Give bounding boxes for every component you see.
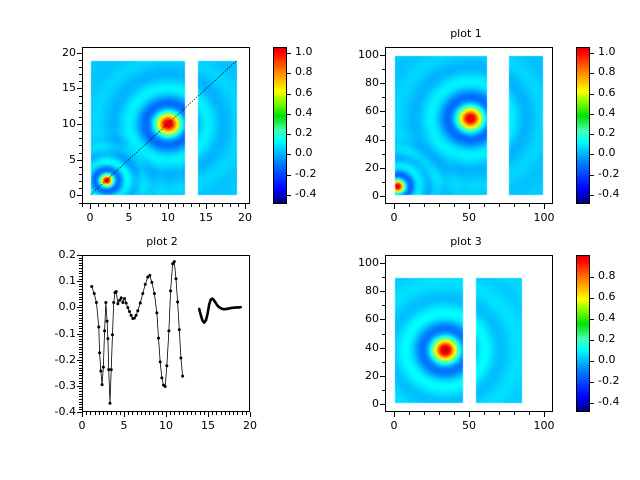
y-tick-minor [79, 276, 82, 277]
line-series-plot2 [83, 256, 249, 411]
y-tick-label: 100 [341, 257, 379, 268]
y-tick-minor [79, 402, 82, 403]
y-tick-minor [79, 391, 82, 392]
x-tick-minor [212, 412, 213, 415]
y-tick-minor [382, 97, 385, 98]
y-tick-minor [79, 260, 82, 261]
colorbar-tick-label: 0.8 [598, 66, 616, 77]
y-tick-minor [79, 360, 82, 361]
diagonal-overlay-line [83, 48, 249, 203]
y-tick-minor [79, 160, 82, 161]
y-tick-minor [79, 265, 82, 266]
y-tick-minor [79, 404, 82, 405]
y-tick-minor [79, 318, 82, 319]
x-tick-minor [454, 204, 455, 207]
y-tick-minor [382, 111, 385, 112]
y-tick-minor [79, 320, 82, 321]
y-tick-minor [79, 378, 82, 379]
x-tick-minor [183, 412, 184, 415]
y-tick-minor [79, 294, 82, 295]
y-tick-label: 0 [341, 190, 379, 201]
colorbar-tick-mark [589, 319, 594, 320]
x-tick-label: 20 [225, 212, 265, 223]
heatmap-bottom-right [386, 256, 552, 411]
x-tick-minor [204, 412, 205, 415]
y-tick-label: 0 [38, 189, 76, 200]
y-tick-minor [79, 263, 82, 264]
y-tick-minor [79, 334, 82, 335]
x-tick-label: 15 [188, 420, 228, 431]
colorbar-tick-label: 1.0 [295, 46, 313, 57]
y-tick-label: 10 [38, 118, 76, 129]
page-title-plot1: plot 1 [376, 28, 556, 40]
x-tick-minor [242, 412, 243, 415]
y-tick-minor [79, 370, 82, 371]
colorbar-tick-mark [589, 53, 594, 54]
y-tick-minor [79, 352, 82, 353]
y-tick-minor [79, 373, 82, 374]
x-tick-minor [141, 412, 142, 415]
colorbar-tick-mark [589, 298, 594, 299]
x-tick-minor [82, 204, 83, 207]
y-tick-minor [79, 310, 82, 311]
y-tick-minor [79, 339, 82, 340]
x-tick-minor [124, 412, 125, 415]
x-tick-minor [179, 412, 180, 415]
y-tick-minor [79, 258, 82, 259]
page-title-plot3: plot 3 [376, 236, 556, 248]
x-tick-minor [544, 204, 545, 207]
y-tick-minor [382, 376, 385, 377]
y-tick-minor [382, 404, 385, 405]
y-tick-minor [79, 81, 82, 82]
colorbar-tick-label: 0.0 [295, 147, 313, 158]
y-tick-minor [79, 96, 82, 97]
y-tick-minor [382, 305, 385, 306]
x-tick-minor [214, 204, 215, 207]
y-tick-minor [382, 348, 385, 349]
x-tick-minor [107, 412, 108, 415]
x-tick-minor [529, 204, 530, 207]
x-tick-minor [153, 412, 154, 415]
x-tick-label: 0 [62, 420, 102, 431]
x-tick-minor [439, 412, 440, 415]
x-tick-minor [409, 204, 410, 207]
x-tick-minor [116, 412, 117, 415]
colorbar-bottom-right [576, 255, 590, 412]
y-tick-minor [79, 279, 82, 280]
x-tick-minor [170, 412, 171, 415]
y-tick-label: -0.3 [38, 380, 76, 391]
axes-bottom-right[interactable] [385, 255, 553, 412]
colorbar-tick-label: 0.6 [598, 291, 616, 302]
x-tick-minor [200, 412, 201, 415]
y-tick-minor [382, 69, 385, 70]
y-tick-minor [79, 181, 82, 182]
y-tick-label: -0.4 [38, 406, 76, 417]
y-tick-minor [382, 291, 385, 292]
x-tick-minor [238, 204, 239, 207]
y-tick-minor [79, 299, 82, 300]
x-tick-minor [105, 204, 106, 207]
x-tick-minor [469, 204, 470, 207]
y-tick-minor [382, 154, 385, 155]
y-tick-minor [79, 268, 82, 269]
y-tick-minor [79, 394, 82, 395]
y-tick-minor [79, 336, 82, 337]
x-tick-minor [128, 412, 129, 415]
x-tick-label: 0 [374, 212, 414, 223]
y-tick-label: 80 [341, 285, 379, 296]
y-tick-minor [79, 103, 82, 104]
colorbar-top-left [273, 47, 287, 204]
x-tick-minor [514, 412, 515, 415]
y-tick-minor [382, 362, 385, 363]
x-tick-label: 0 [70, 212, 110, 223]
colorbar-tick-mark [589, 382, 594, 383]
heatmap-top-right [386, 48, 552, 203]
y-tick-minor [79, 362, 82, 363]
y-tick-minor [79, 326, 82, 327]
y-tick-label: 20 [341, 162, 379, 173]
x-tick-minor [499, 204, 500, 207]
colorbar-tick-label: 0.8 [598, 270, 616, 281]
colorbar-tick-mark [589, 94, 594, 95]
colorbar-tick-mark [589, 73, 594, 74]
y-tick-minor [382, 277, 385, 278]
y-tick-label: 0.0 [38, 301, 76, 312]
y-tick-minor [79, 188, 82, 189]
x-tick-minor [237, 412, 238, 415]
colorbar-tick-mark [286, 94, 291, 95]
x-tick-minor [191, 204, 192, 207]
y-tick-minor [382, 140, 385, 141]
y-tick-minor [382, 83, 385, 84]
y-tick-minor [382, 182, 385, 183]
y-tick-minor [79, 409, 82, 410]
x-tick-minor [514, 204, 515, 207]
y-tick-label: -0.2 [38, 354, 76, 365]
y-tick-minor [79, 292, 82, 293]
x-tick-minor [136, 204, 137, 207]
x-tick-minor [98, 204, 99, 207]
x-tick-label: 5 [109, 212, 149, 223]
x-tick-minor [129, 204, 130, 207]
y-tick-minor [382, 334, 385, 335]
x-tick-minor [90, 412, 91, 415]
colorbar-tick-mark [589, 175, 594, 176]
colorbar-top-right [576, 47, 590, 204]
y-tick-minor [79, 281, 82, 282]
x-tick-minor [160, 204, 161, 207]
x-tick-minor [132, 412, 133, 415]
colorbar-tick-label: -0.4 [598, 396, 619, 407]
colorbar-tick-label: -0.2 [598, 375, 619, 386]
colorbar-tick-mark [589, 154, 594, 155]
x-tick-label: 10 [146, 420, 186, 431]
y-tick-minor [79, 344, 82, 345]
x-tick-minor [529, 412, 530, 415]
y-tick-minor [79, 302, 82, 303]
x-tick-label: 20 [230, 420, 270, 431]
x-tick-minor [484, 412, 485, 415]
y-tick-minor [79, 289, 82, 290]
y-tick-minor [79, 138, 82, 139]
x-tick-label: 15 [186, 212, 226, 223]
y-tick-label: 40 [341, 134, 379, 145]
colorbar-tick-mark [286, 114, 291, 115]
colorbar-tick-mark [286, 134, 291, 135]
y-tick-minor [79, 286, 82, 287]
y-tick-minor [79, 145, 82, 146]
x-tick-label: 100 [524, 420, 564, 431]
y-tick-label: 100 [341, 49, 379, 60]
x-tick-minor [82, 412, 83, 415]
x-tick-minor [246, 412, 247, 415]
y-tick-minor [79, 368, 82, 369]
y-tick-minor [382, 168, 385, 169]
y-tick-minor [79, 386, 82, 387]
colorbar-tick-label: 1.0 [598, 46, 616, 57]
axes-top-left[interactable] [82, 47, 250, 204]
x-tick-minor [221, 412, 222, 415]
colorbar-tick-mark [286, 175, 291, 176]
x-tick-minor [484, 204, 485, 207]
x-tick-minor [208, 412, 209, 415]
x-tick-minor [424, 412, 425, 415]
colorbar-gradient-top-right [577, 48, 589, 203]
colorbar-tick-mark [589, 195, 594, 196]
y-tick-minor [79, 323, 82, 324]
x-tick-minor [216, 412, 217, 415]
figure-canvas: 0510152005101520 plot 1 0204060801000501… [0, 0, 640, 480]
x-tick-minor [174, 412, 175, 415]
y-tick-minor [79, 67, 82, 68]
x-tick-minor [86, 412, 87, 415]
y-tick-minor [79, 399, 82, 400]
y-tick-minor [79, 365, 82, 366]
y-tick-label: 5 [38, 154, 76, 165]
x-tick-minor [394, 412, 395, 415]
x-tick-minor [137, 412, 138, 415]
y-tick-minor [79, 53, 82, 54]
y-tick-minor [382, 263, 385, 264]
y-tick-minor [79, 74, 82, 75]
x-tick-label: 0 [374, 420, 414, 431]
y-tick-minor [79, 88, 82, 89]
colorbar-gradient-top-left [274, 48, 286, 203]
colorbar-tick-mark [589, 134, 594, 135]
y-tick-minor [79, 167, 82, 168]
y-tick-minor [79, 174, 82, 175]
x-tick-minor [250, 412, 251, 415]
y-tick-minor [79, 117, 82, 118]
y-tick-label: 80 [341, 77, 379, 88]
y-tick-minor [79, 313, 82, 314]
y-tick-minor [79, 383, 82, 384]
x-tick-minor [199, 204, 200, 207]
y-tick-minor [79, 195, 82, 196]
x-tick-minor [229, 412, 230, 415]
x-tick-minor [187, 412, 188, 415]
y-tick-minor [79, 271, 82, 272]
y-tick-label: 20 [341, 370, 379, 381]
y-tick-label: -0.1 [38, 328, 76, 339]
x-tick-minor [230, 204, 231, 207]
x-tick-minor [544, 412, 545, 415]
x-tick-minor [191, 412, 192, 415]
x-tick-minor [111, 412, 112, 415]
y-tick-label: 60 [341, 105, 379, 116]
x-tick-label: 10 [148, 212, 188, 223]
x-tick-label: 50 [449, 420, 489, 431]
y-tick-minor [79, 60, 82, 61]
colorbar-tick-label: 0.4 [295, 107, 313, 118]
x-tick-minor [158, 412, 159, 415]
y-tick-minor [79, 357, 82, 358]
y-tick-minor [79, 347, 82, 348]
colorbar-gradient-bottom-right [577, 256, 589, 411]
colorbar-tick-label: 0.2 [598, 127, 616, 138]
y-tick-minor [79, 284, 82, 285]
x-tick-minor [144, 204, 145, 207]
y-tick-minor [79, 341, 82, 342]
axes-top-right[interactable] [385, 47, 553, 204]
x-tick-label: 50 [449, 212, 489, 223]
colorbar-tick-mark [286, 154, 291, 155]
y-tick-minor [382, 55, 385, 56]
x-tick-minor [206, 204, 207, 207]
x-tick-minor [245, 204, 246, 207]
colorbar-tick-mark [589, 361, 594, 362]
x-tick-minor [95, 412, 96, 415]
colorbar-tick-label: -0.2 [598, 168, 619, 179]
x-tick-minor [99, 412, 100, 415]
y-tick-minor [79, 396, 82, 397]
y-tick-minor [382, 319, 385, 320]
y-tick-minor [79, 349, 82, 350]
y-tick-minor [79, 375, 82, 376]
x-tick-minor [90, 204, 91, 207]
colorbar-tick-mark [286, 73, 291, 74]
y-tick-minor [79, 307, 82, 308]
x-tick-minor [454, 412, 455, 415]
y-tick-label: 0.2 [38, 249, 76, 260]
colorbar-tick-label: -0.2 [295, 168, 316, 179]
y-tick-minor [79, 255, 82, 256]
x-tick-minor [439, 204, 440, 207]
y-tick-minor [79, 297, 82, 298]
colorbar-tick-label: 0.2 [295, 127, 313, 138]
x-tick-minor [175, 204, 176, 207]
y-tick-minor [79, 273, 82, 274]
y-tick-minor [79, 131, 82, 132]
y-tick-label: 0.1 [38, 275, 76, 286]
colorbar-tick-label: 0.4 [598, 312, 616, 323]
x-tick-minor [121, 204, 122, 207]
colorbar-tick-mark [589, 114, 594, 115]
colorbar-tick-label: 0.0 [598, 354, 616, 365]
colorbar-tick-mark [589, 403, 594, 404]
colorbar-tick-mark [589, 340, 594, 341]
colorbar-tick-label: 0.6 [295, 87, 313, 98]
axes-bottom-left[interactable] [82, 255, 250, 412]
y-tick-minor [79, 354, 82, 355]
x-tick-label: 100 [524, 212, 564, 223]
x-tick-minor [499, 412, 500, 415]
y-tick-minor [79, 110, 82, 111]
colorbar-tick-mark [286, 195, 291, 196]
x-tick-minor [222, 204, 223, 207]
x-tick-minor [195, 412, 196, 415]
y-tick-minor [79, 153, 82, 154]
y-tick-minor [79, 331, 82, 332]
x-tick-minor [162, 412, 163, 415]
colorbar-tick-label: -0.4 [598, 188, 619, 199]
x-tick-minor [113, 204, 114, 207]
x-tick-minor [233, 412, 234, 415]
x-tick-minor [424, 204, 425, 207]
y-tick-label: 15 [38, 82, 76, 93]
y-tick-minor [79, 407, 82, 408]
y-tick-minor [79, 328, 82, 329]
y-tick-label: 20 [38, 47, 76, 58]
x-tick-minor [409, 412, 410, 415]
x-tick-minor [149, 412, 150, 415]
x-tick-minor [152, 204, 153, 207]
page-title-plot2: plot 2 [72, 236, 252, 248]
colorbar-tick-label: 0.4 [598, 107, 616, 118]
y-tick-minor [79, 315, 82, 316]
colorbar-tick-label: -0.4 [295, 188, 316, 199]
y-tick-minor [382, 126, 385, 127]
x-tick-minor [168, 204, 169, 207]
colorbar-tick-label: 0.2 [598, 333, 616, 344]
y-tick-minor [382, 196, 385, 197]
colorbar-tick-label: 0.6 [598, 87, 616, 98]
y-tick-label: 40 [341, 342, 379, 353]
x-tick-minor [394, 204, 395, 207]
x-tick-label: 5 [104, 420, 144, 431]
x-tick-minor [103, 412, 104, 415]
colorbar-tick-label: 0.0 [598, 147, 616, 158]
y-tick-minor [79, 124, 82, 125]
y-tick-minor [382, 390, 385, 391]
y-tick-label: 60 [341, 313, 379, 324]
x-tick-minor [145, 412, 146, 415]
colorbar-tick-label: 0.8 [295, 66, 313, 77]
colorbar-tick-mark [286, 53, 291, 54]
y-tick-minor [79, 388, 82, 389]
y-tick-minor [79, 305, 82, 306]
x-tick-minor [469, 412, 470, 415]
y-tick-minor [79, 381, 82, 382]
colorbar-tick-mark [589, 277, 594, 278]
x-tick-minor [183, 204, 184, 207]
x-tick-minor [225, 412, 226, 415]
x-tick-minor [166, 412, 167, 415]
x-tick-minor [120, 412, 121, 415]
y-tick-label: 0 [341, 398, 379, 409]
